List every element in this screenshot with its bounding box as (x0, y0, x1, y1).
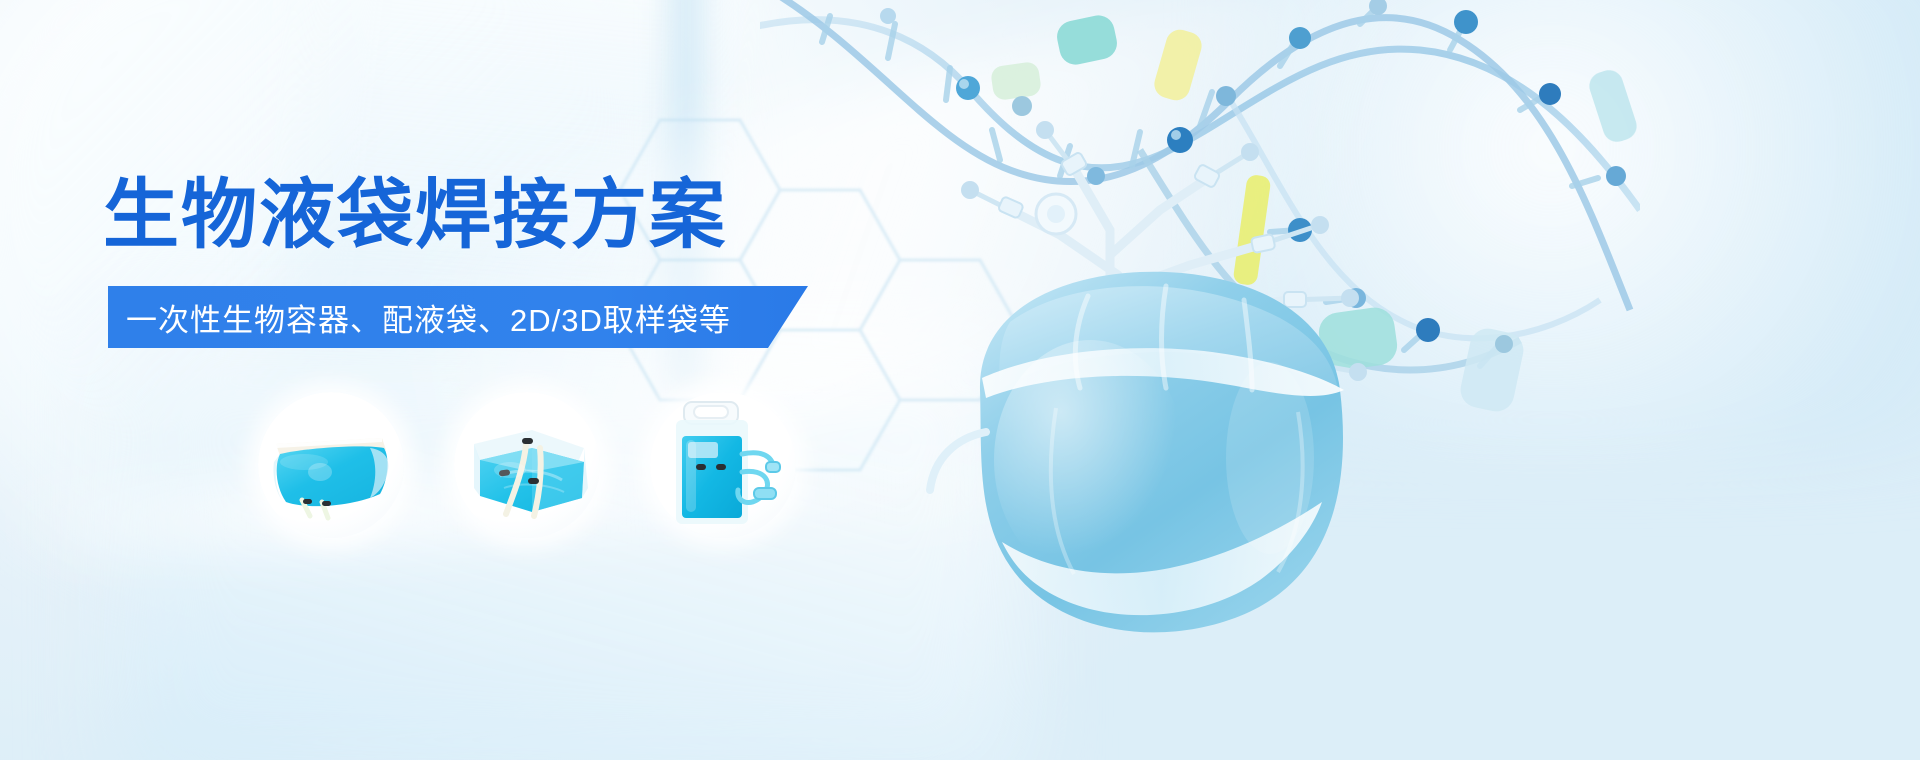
page-title: 生物液袋焊接方案 (103, 178, 727, 254)
hero-banner: 生物液袋焊接方案 一次性生物容器、配液袋、2D/3D取样袋等 (0, 0, 1920, 760)
thumbnail-2d-bag (258, 392, 404, 538)
bioreactor-bag-image (860, 60, 1480, 660)
bag-sampling-icon (650, 392, 796, 538)
bag-2d-icon (258, 392, 404, 538)
thumbnail-3d-bag (454, 392, 600, 538)
bag-3d-icon (454, 392, 600, 538)
product-thumbnail-group (258, 392, 838, 552)
subtitle-text: 一次性生物容器、配液袋、2D/3D取样袋等 (126, 286, 731, 348)
thumbnail-sampling-bag (650, 392, 796, 538)
